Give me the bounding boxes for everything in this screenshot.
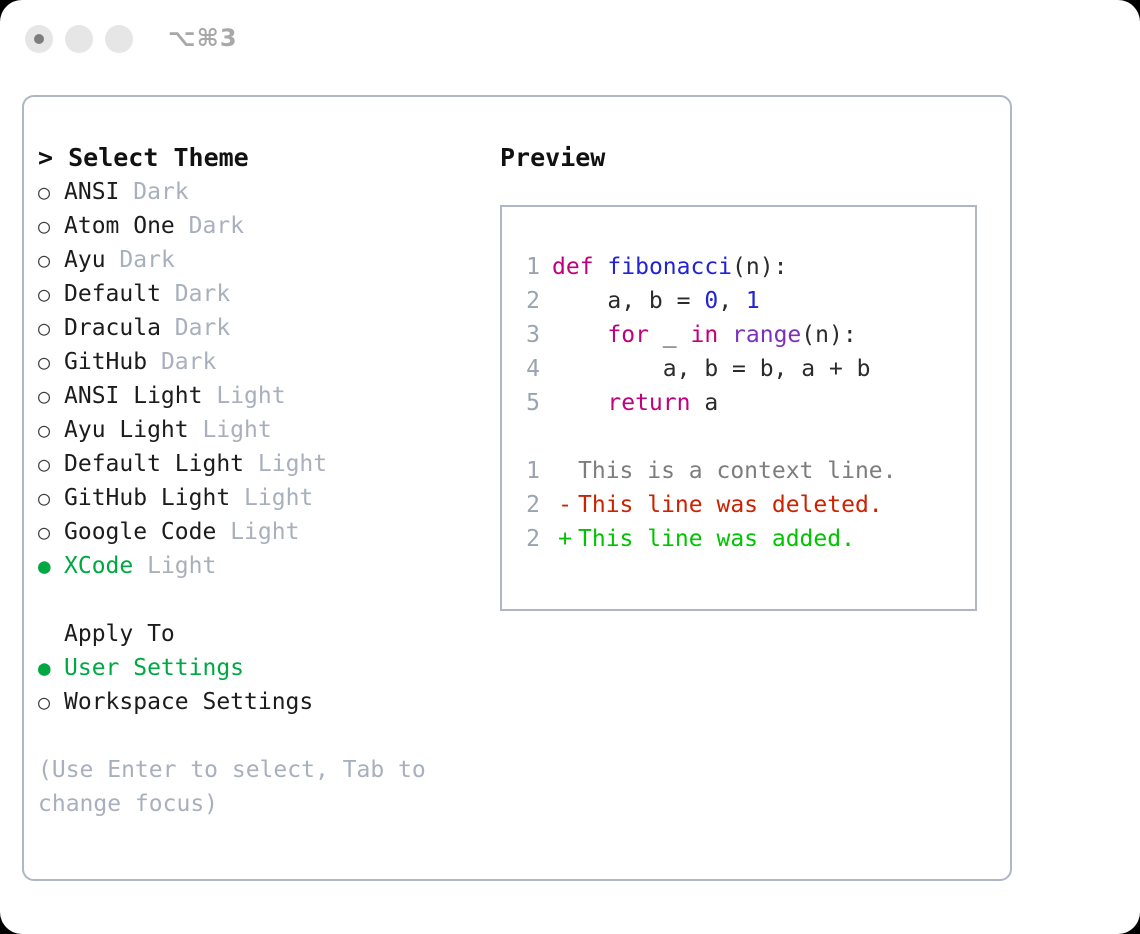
code-token-pl: _ [649,322,691,348]
theme-variant: Light [216,379,285,413]
theme-option-default-light[interactable]: ○Default Light Light [38,447,488,481]
diff-line-number: 2 [514,488,540,522]
theme-spacer [133,549,147,583]
code-lines: 1def fibonacci(n):2 a, b = 0, 13 for _ i… [514,250,974,420]
theme-variant: Dark [189,209,244,243]
theme-spacer [161,277,175,311]
code-line-text: return a [540,386,718,420]
apply-to-heading: Apply To [38,617,488,651]
theme-name: ANSI [64,175,119,209]
code-line-number: 3 [514,318,540,352]
apply-to-list: ●User Settings○Workspace Settings [38,651,488,719]
code-line-number: 4 [514,352,540,386]
theme-option-github[interactable]: ○GitHub Dark [38,345,488,379]
theme-variant: Dark [161,345,216,379]
theme-name: ANSI Light [64,379,202,413]
code-token-pl [594,254,608,280]
keyboard-shortcut-label: ⌥⌘3 [168,24,238,52]
code-line: 5 return a [514,386,974,420]
theme-name: Dracula [64,311,161,345]
preview-column: Preview 1def fibonacci(n):2 a, b = 0, 13… [500,141,1000,175]
radio-unselected-icon: ○ [38,345,64,379]
diff-gap [514,420,974,454]
code-token-pl: a [690,390,718,416]
diff-marker-icon [552,454,578,488]
code-line-number: 5 [514,386,540,420]
radio-unselected-icon: ○ [38,481,64,515]
diff-line-body: +This line was added. [540,522,855,556]
code-line-text: a, b = b, a + b [540,352,871,386]
code-token-kw: return [607,390,690,416]
code-line-text: a, b = 0, 1 [540,284,760,318]
code-token-kw: def [552,254,594,280]
theme-name: GitHub [64,345,147,379]
theme-spacer [161,311,175,345]
preview-heading: Preview [500,141,1000,175]
theme-name: Default Light [64,447,244,481]
theme-option-default[interactable]: ○Default Dark [38,277,488,311]
theme-option-github-light[interactable]: ○GitHub Light Light [38,481,488,515]
theme-picker-panel: > Select Theme ○ANSI Dark○Atom One Dark○… [22,95,1012,881]
code-token-pl: (n): [732,254,787,280]
code-token-kw: for [607,322,649,348]
theme-option-google-code[interactable]: ○Google Code Light [38,515,488,549]
keyboard-hint-text: (Use Enter to select, Tab to change focu… [38,753,458,821]
radio-unselected-icon: ○ [38,685,64,719]
theme-option-ayu[interactable]: ○Ayu Dark [38,243,488,277]
theme-variant: Light [147,549,216,583]
code-token-kw: in [690,322,718,348]
theme-option-atom-one[interactable]: ○Atom One Dark [38,209,488,243]
diff-line-body: -This line was deleted. [540,488,883,522]
diff-line-text: This is a context line. [578,458,897,484]
theme-name: GitHub Light [64,481,230,515]
theme-spacer [147,345,161,379]
window-titlebar: ⌥⌘3 [0,0,1140,78]
code-preview: 1def fibonacci(n):2 a, b = 0, 13 for _ i… [514,250,974,556]
diff-line-text: This line was added. [578,526,855,552]
radio-unselected-icon: ○ [38,447,64,481]
theme-variant: Dark [175,277,230,311]
theme-list: ○ANSI Dark○Atom One Dark○Ayu Dark○Defaul… [38,175,488,583]
theme-variant: Light [202,413,271,447]
code-token-pl [552,390,607,416]
code-line-number: 1 [514,250,540,284]
apply-to-option-user-settings[interactable]: ●User Settings [38,651,488,685]
radio-unselected-icon: ○ [38,277,64,311]
theme-variant: Light [230,515,299,549]
select-theme-heading: > Select Theme [38,141,488,175]
radio-unselected-icon: ○ [38,175,64,209]
theme-name: Ayu Light [64,413,189,447]
diff-line-number: 1 [514,454,540,488]
theme-variant: Light [244,481,313,515]
code-line: 4 a, b = b, a + b [514,352,974,386]
code-line-text: def fibonacci(n): [540,250,787,284]
diff-marker-icon: + [552,522,578,556]
theme-spacer [202,379,216,413]
theme-spacer [216,515,230,549]
theme-name: Atom One [64,209,175,243]
preview-box: 1def fibonacci(n):2 a, b = 0, 13 for _ i… [500,205,977,611]
theme-name: Default [64,277,161,311]
radio-unselected-icon: ○ [38,413,64,447]
theme-spacer [244,447,258,481]
theme-option-dracula[interactable]: ○Dracula Dark [38,311,488,345]
radio-unselected-icon: ○ [38,311,64,345]
diff-marker-icon: - [552,488,578,522]
code-token-pl [552,322,607,348]
window-dot-second[interactable] [65,25,93,53]
code-token-fn: fibonacci [607,254,732,280]
radio-unselected-icon: ○ [38,243,64,277]
theme-list-column: > Select Theme ○ANSI Dark○Atom One Dark○… [38,141,488,821]
diff-lines: 1 This is a context line.2-This line was… [514,454,974,556]
diff-line-ctx: 1 This is a context line. [514,454,974,488]
apply-to-label: User Settings [64,651,244,685]
code-token-pl: a, b = [552,288,704,314]
radio-unselected-icon: ○ [38,515,64,549]
code-token-pl [718,322,732,348]
app-window: ⌥⌘3 > Select Theme ○ANSI Dark○Atom One D… [0,0,1140,934]
window-dot-active-core [34,34,44,44]
code-line-number: 2 [514,284,540,318]
theme-name: XCode [64,549,133,583]
theme-variant: Light [258,447,327,481]
theme-variant: Dark [133,175,188,209]
diff-line-number: 2 [514,522,540,556]
theme-option-ayu-light[interactable]: ○Ayu Light Light [38,413,488,447]
theme-name: Google Code [64,515,216,549]
window-dot-active[interactable] [25,25,53,53]
diff-line-text: This line was deleted. [578,492,883,518]
theme-spacer [175,209,189,243]
code-line: 1def fibonacci(n): [514,250,974,284]
theme-option-ansi[interactable]: ○ANSI Dark [38,175,488,209]
radio-unselected-icon: ○ [38,209,64,243]
theme-option-xcode[interactable]: ●XCode Light [38,549,488,583]
apply-to-option-workspace-settings[interactable]: ○Workspace Settings [38,685,488,719]
code-token-pl: a, b = b, a + b [552,356,871,382]
code-line-text: for _ in range(n): [540,318,857,352]
code-line: 2 a, b = 0, 1 [514,284,974,318]
theme-spacer [119,175,133,209]
apply-to-label: Workspace Settings [64,685,313,719]
radio-selected-icon: ● [38,549,64,583]
code-token-pl: (n): [801,322,856,348]
theme-option-ansi-light[interactable]: ○ANSI Light Light [38,379,488,413]
radio-unselected-icon: ○ [38,379,64,413]
theme-variant: Dark [119,243,174,277]
theme-spacer [106,243,120,277]
radio-selected-icon: ● [38,651,64,685]
theme-spacer [189,413,203,447]
code-line: 3 for _ in range(n): [514,318,974,352]
code-token-num: 1 [746,288,760,314]
theme-variant: Dark [175,311,230,345]
window-dot-third[interactable] [105,25,133,53]
theme-spacer [230,481,244,515]
code-token-pl: , [718,288,746,314]
diff-line-add: 2+This line was added. [514,522,974,556]
list-spacer [38,583,488,617]
code-token-bi: range [732,322,801,348]
theme-name: Ayu [64,243,106,277]
diff-line-body: This is a context line. [540,454,897,488]
diff-line-del: 2-This line was deleted. [514,488,974,522]
code-token-num: 0 [704,288,718,314]
